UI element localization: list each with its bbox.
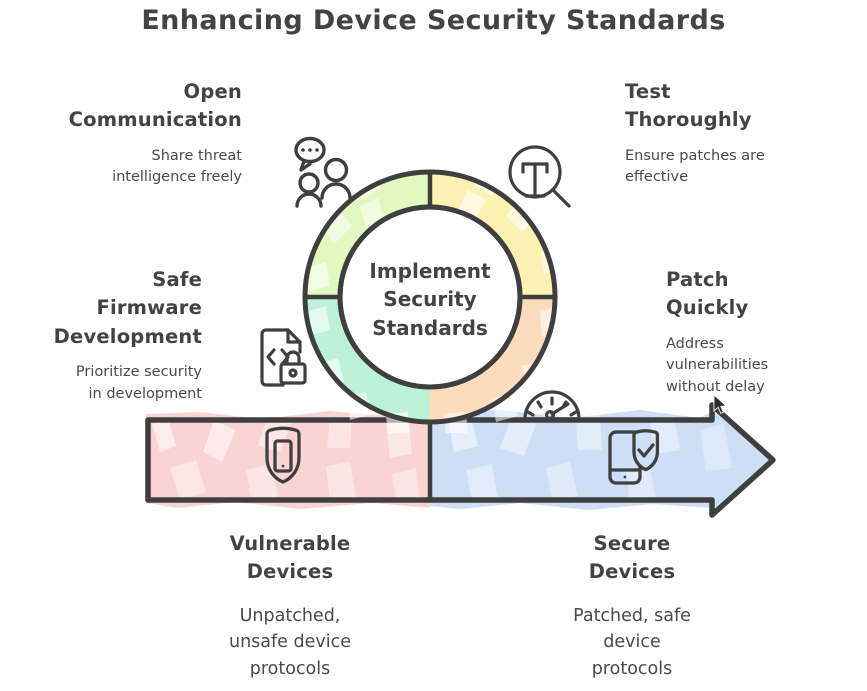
arrow-label-vulnerable-devices[interactable]: Vulnerable Devices Unpatched, unsafe dev… bbox=[148, 530, 432, 682]
page-title: Enhancing Device Security Standards bbox=[0, 5, 867, 36]
magnifier-test-icon bbox=[510, 147, 569, 206]
segment-desc-patch-quickly: Address vulnerabilities without delay bbox=[666, 334, 826, 399]
segment-label-test-thoroughly[interactable]: Test Thoroughly Ensure patches are effec… bbox=[625, 78, 840, 189]
segment-desc-open-communication: Share threat intelligence freely bbox=[30, 146, 242, 190]
segment-label-patch-quickly[interactable]: Patch Quickly Address vulnerabilities wi… bbox=[666, 266, 826, 399]
arrow-desc-vulnerable-devices: Unpatched, unsafe device protocols bbox=[148, 603, 432, 683]
segment-title-safe-firmware-development: Safe Firmware Development bbox=[20, 266, 202, 351]
speedometer-icon bbox=[525, 392, 579, 419]
segment-desc-test-thoroughly: Ensure patches are effective bbox=[625, 146, 840, 190]
segment-desc-safe-firmware-development: Prioritize security in development bbox=[20, 362, 202, 406]
segment-label-safe-firmware-development[interactable]: Safe Firmware Development Prioritize sec… bbox=[20, 266, 202, 405]
arrow-desc-secure-devices: Patched, safe device protocols bbox=[498, 603, 766, 683]
diagram-canvas: Enhancing Device Security Standards Open… bbox=[0, 0, 867, 691]
people-chat-icon bbox=[296, 139, 350, 206]
arrow-title-secure-devices: Secure Devices bbox=[498, 530, 766, 587]
segment-title-open-communication: Open Communication bbox=[30, 78, 242, 135]
segment-title-patch-quickly: Patch Quickly bbox=[666, 266, 826, 323]
arrow-title-vulnerable-devices: Vulnerable Devices bbox=[148, 530, 432, 587]
code-lock-icon bbox=[262, 330, 305, 385]
cycle-center-label: Implement Security Standards bbox=[340, 257, 520, 342]
arrow-label-secure-devices[interactable]: Secure Devices Patched, safe device prot… bbox=[498, 530, 766, 682]
segment-title-test-thoroughly: Test Thoroughly bbox=[625, 78, 840, 135]
segment-label-open-communication[interactable]: Open Communication Share threat intellig… bbox=[30, 78, 242, 189]
